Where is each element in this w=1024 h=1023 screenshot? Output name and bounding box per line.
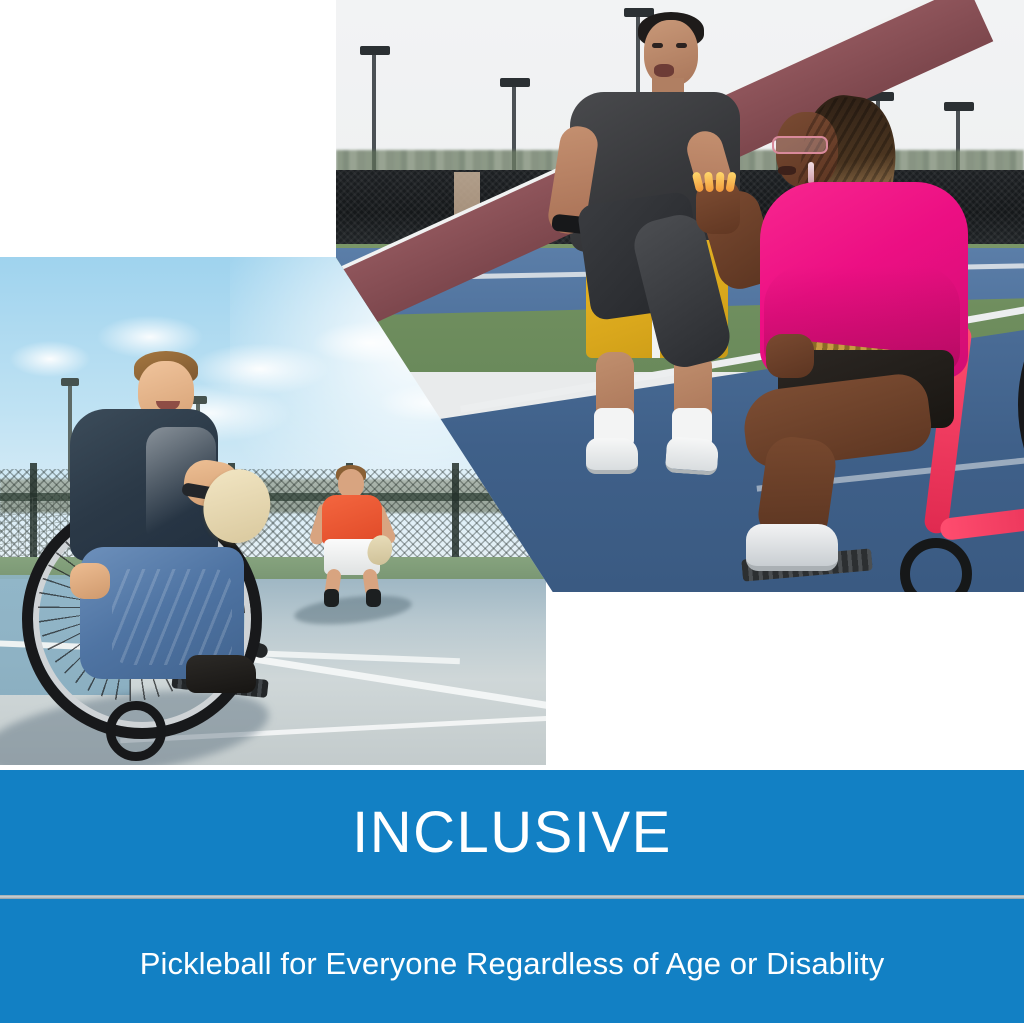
player-right-shoe	[665, 436, 719, 476]
player-left-shoe	[586, 438, 638, 474]
subtitle-row: Pickleball for Everyone Regardless of Ag…	[0, 899, 1024, 1023]
player-eye	[652, 43, 663, 48]
player-eye	[676, 43, 687, 48]
foreground-wheelchair-player	[16, 357, 266, 765]
player-sneaker	[746, 524, 838, 571]
caption-band: INCLUSIVE Pickleball for Everyone Regard…	[0, 770, 1024, 1023]
page-subtitle: Pickleball for Everyone Regardless of Ag…	[140, 947, 885, 981]
player-earring	[808, 162, 814, 184]
fence-post	[452, 463, 459, 567]
wheelchair-player	[742, 96, 1024, 592]
player-right-sock	[366, 589, 381, 607]
player-lap-hand	[766, 334, 814, 378]
title-row: INCLUSIVE	[0, 770, 1024, 895]
inclusive-pickleball-poster: INCLUSIVE Pickleball for Everyone Regard…	[0, 0, 1024, 1023]
jeans-folds	[112, 569, 232, 665]
player-glasses	[772, 136, 828, 154]
player-mouth	[778, 166, 796, 175]
player-nails	[694, 172, 736, 194]
photo-collage	[0, 0, 1024, 770]
player-left-sock	[324, 589, 339, 607]
page-title: INCLUSIVE	[352, 804, 672, 862]
player-hand-on-rim	[70, 563, 110, 599]
player-shoe	[186, 655, 256, 693]
background-player	[308, 469, 398, 609]
player-head	[644, 20, 698, 86]
player-mouth	[654, 64, 674, 77]
